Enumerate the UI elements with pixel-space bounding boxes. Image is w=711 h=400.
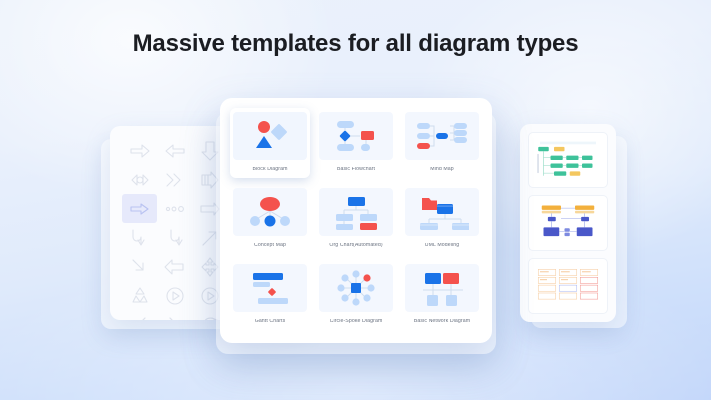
dashed-arrow-right-icon[interactable] [122, 194, 157, 223]
template-card-uml-modeling[interactable]: UML Modeling [402, 184, 482, 254]
bent-arrow-down-icon[interactable] [122, 223, 157, 252]
arrow-right-outline-icon[interactable] [122, 136, 157, 165]
concept-map-thumb [233, 188, 307, 236]
template-card-label: Concept Map [254, 243, 286, 248]
dotted-sequence-icon[interactable] [157, 194, 192, 223]
hook-arrow-icon[interactable] [157, 223, 192, 252]
template-card-label: Org Chart(Automated) [329, 243, 382, 248]
block-diagram-thumb [233, 112, 307, 160]
template-card-label: Basic Network Diagram [414, 319, 470, 324]
template-card-org-chart-automated[interactable]: Org Chart(Automated) [316, 184, 396, 254]
arrow-down-left-icon[interactable] [122, 310, 157, 320]
template-card-label: Mind Map [430, 167, 454, 172]
uml-modeling-thumb [405, 188, 479, 236]
double-arrow-knot-icon[interactable] [122, 165, 157, 194]
mind-map-thumb [405, 112, 479, 160]
play-circle-icon[interactable] [157, 281, 192, 310]
gantt-charts-thumb [233, 264, 307, 312]
template-card-block-diagram[interactable]: Block Diagram [230, 108, 310, 178]
template-card-concept-map[interactable]: Concept Map [230, 184, 310, 254]
org-chart-thumb [319, 188, 393, 236]
template-card-label: Circle-Spoke Diagram [330, 319, 383, 324]
arrow-left-pentagon-icon[interactable] [157, 136, 192, 165]
basic-network-thumb [405, 264, 479, 312]
template-card-label: Basic Flowchart [337, 167, 375, 172]
circle-spoke-thumb [319, 264, 393, 312]
arrow-left-chevron-icon[interactable] [157, 252, 192, 281]
recycle-icon[interactable] [122, 281, 157, 310]
page-title: Massive templates for all diagram types [0, 30, 711, 58]
template-card-label: UML Modeling [425, 243, 459, 248]
preview-stack-panel[interactable] [520, 124, 616, 322]
template-card-gantt-charts[interactable]: Gantt Charts [230, 260, 310, 330]
template-card-basic-flowchart[interactable]: Basic Flowchart [316, 108, 396, 178]
green-flowchart-preview[interactable] [528, 132, 608, 188]
template-card-basic-network-diagram[interactable]: Basic Network Diagram [402, 260, 482, 330]
template-card-label: Block Diagram [252, 167, 287, 172]
template-gallery-panel[interactable]: Block Diagram Basic Flowchart Mind Map C… [220, 98, 492, 343]
orange-table-preview[interactable] [528, 258, 608, 314]
template-card-label: Gantt Charts [255, 319, 286, 324]
arrow-up-left-icon[interactable] [157, 310, 192, 320]
template-card-circle-spoke-diagram[interactable]: Circle-Spoke Diagram [316, 260, 396, 330]
chevron-double-right-icon[interactable] [157, 165, 192, 194]
template-card-mind-map[interactable]: Mind Map [402, 108, 482, 178]
blue-process-diagram-preview[interactable] [528, 195, 608, 251]
arrow-down-right-icon[interactable] [122, 252, 157, 281]
basic-flowchart-thumb [319, 112, 393, 160]
